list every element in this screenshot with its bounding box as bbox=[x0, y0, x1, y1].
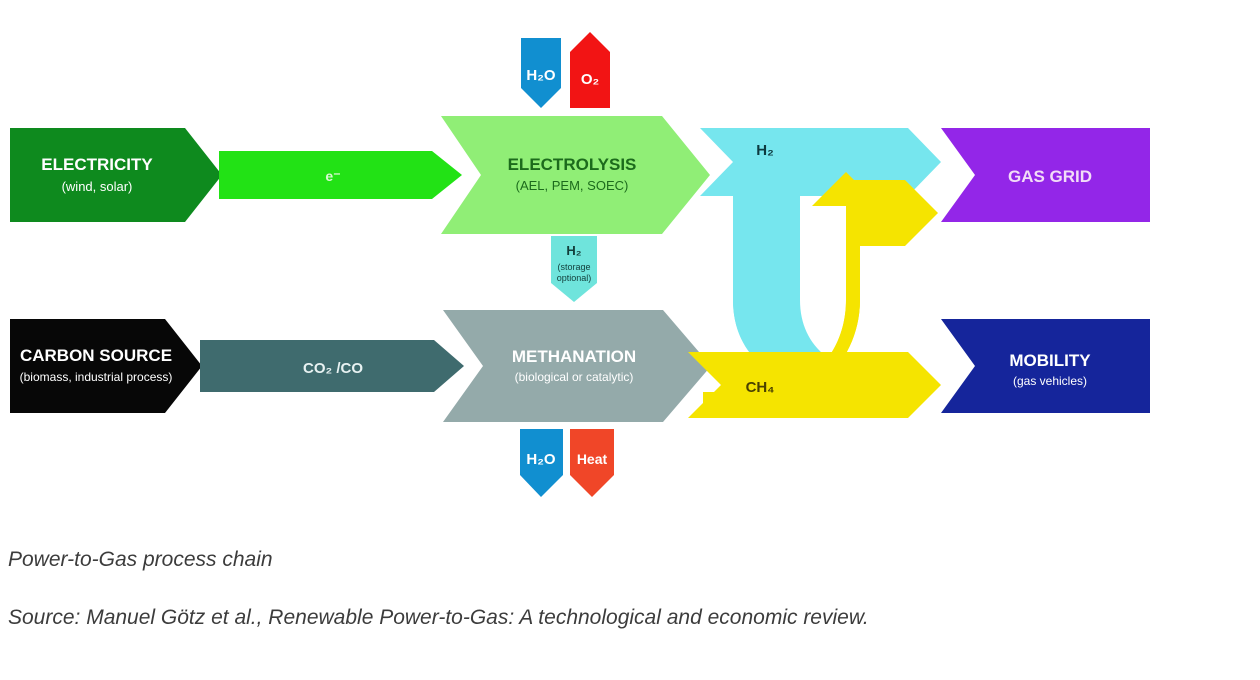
block-methanation-subtitle: (biological or catalytic) bbox=[515, 370, 634, 384]
water-in-label: H₂O bbox=[526, 67, 555, 84]
block-methanation[interactable]: METHANATION (biological or catalytic) bbox=[443, 310, 711, 422]
block-carbon-source-title: CARBON SOURCE bbox=[20, 346, 172, 365]
figure-caption-source: Source: Manuel Götz et al., Renewable Po… bbox=[8, 606, 869, 630]
oxygen-out-label: O₂ bbox=[581, 71, 599, 88]
diagram-background bbox=[0, 0, 1260, 520]
block-carbon-source-subtitle: (biomass, industrial process) bbox=[20, 370, 173, 384]
flow-electron: e⁻ bbox=[219, 151, 462, 199]
heat-out-label: Heat bbox=[577, 451, 608, 467]
flow-methane-main: CH₄ bbox=[688, 352, 941, 418]
block-carbon-source[interactable]: CARBON SOURCE (biomass, industrial proce… bbox=[10, 319, 202, 413]
hydrogen-storage-label: H₂ bbox=[566, 243, 581, 258]
block-gas-grid-title: GAS GRID bbox=[1008, 167, 1092, 186]
flow-co2-label: CO₂ /CO bbox=[303, 360, 363, 377]
hydrogen-storage-sub1: (storage bbox=[557, 262, 590, 272]
block-mobility-title: MOBILITY bbox=[1009, 351, 1091, 370]
flow-methane-label: CH₄ bbox=[746, 379, 775, 396]
water-out-label: H₂O bbox=[526, 451, 555, 468]
figure-page: H₂O O₂ ELECTRICITY (wind, solar) e⁻ bbox=[0, 0, 1260, 680]
block-electricity-title: ELECTRICITY bbox=[41, 155, 153, 174]
block-electrolysis-subtitle: (AEL, PEM, SOEC) bbox=[516, 178, 629, 193]
flow-hydrogen-label: H₂ bbox=[756, 142, 774, 159]
block-methanation-title: METHANATION bbox=[512, 347, 636, 366]
flow-electron-label: e⁻ bbox=[325, 168, 340, 184]
figure-caption-title: Power-to-Gas process chain bbox=[8, 548, 273, 572]
power-to-gas-diagram: H₂O O₂ ELECTRICITY (wind, solar) e⁻ bbox=[0, 0, 1260, 520]
hydrogen-storage-sub2: optional) bbox=[557, 273, 592, 283]
block-electrolysis[interactable]: ELECTROLYSIS (AEL, PEM, SOEC) bbox=[441, 116, 710, 234]
block-electricity-subtitle: (wind, solar) bbox=[62, 179, 133, 194]
block-mobility-subtitle: (gas vehicles) bbox=[1013, 374, 1087, 388]
flow-co2: CO₂ /CO bbox=[200, 340, 464, 392]
block-electricity[interactable]: ELECTRICITY (wind, solar) bbox=[10, 128, 222, 222]
block-electrolysis-title: ELECTROLYSIS bbox=[508, 155, 637, 174]
